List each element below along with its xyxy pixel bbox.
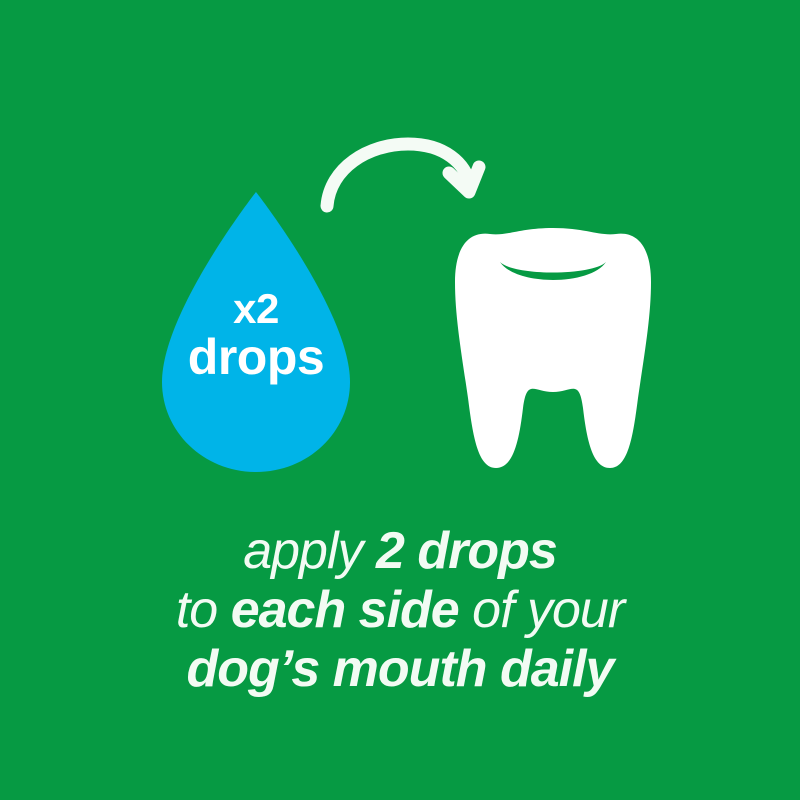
caption-line2-light-1: to (176, 581, 231, 639)
caption-line1-light: apply (243, 522, 376, 580)
curved-arrow-icon (327, 144, 479, 206)
caption-line3-bold: dog’s mouth daily (187, 640, 614, 698)
caption-line2-light-2: of your (459, 581, 624, 639)
instruction-caption: apply 2 drops to each side of your dog’s… (0, 522, 800, 699)
infographic-canvas: x2 drops apply 2 drops to each side of y… (0, 0, 800, 800)
droplet-label-line2: drops (160, 332, 352, 382)
caption-line2-bold: each side (231, 581, 459, 639)
caption-line-1: apply 2 drops (0, 522, 800, 581)
tooth-icon (455, 228, 651, 468)
caption-line-3: dog’s mouth daily (0, 640, 800, 699)
caption-line1-bold: 2 drops (376, 522, 557, 580)
droplet-label: x2 drops (160, 288, 352, 382)
droplet-label-line1: x2 (160, 288, 352, 330)
caption-line-2: to each side of your (0, 581, 800, 640)
